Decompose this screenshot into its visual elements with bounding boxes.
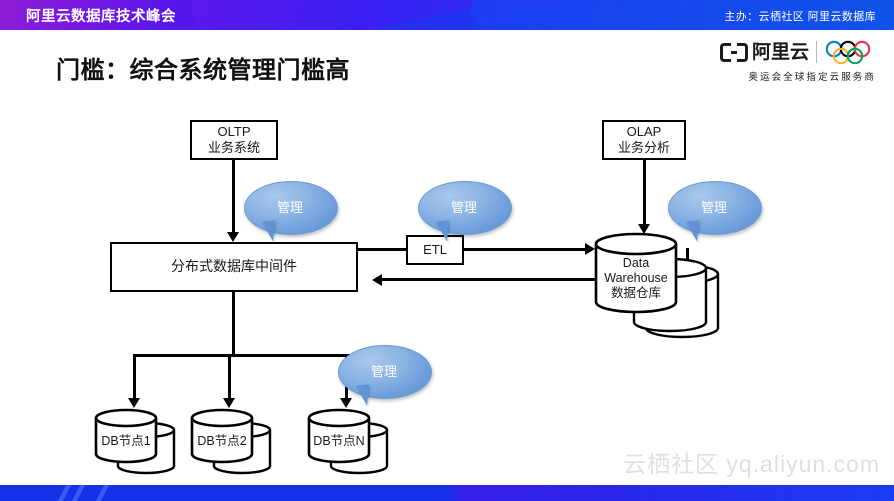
olap-line1: OLAP [627, 124, 662, 140]
etl-warehouse-line [464, 248, 589, 251]
olap-box: OLAP 业务分析 [602, 120, 686, 160]
manage-bubble-label-1: 管理 [244, 197, 336, 216]
manage-bubble-warehouse: 管理 [668, 181, 760, 233]
middleware-etl-line [358, 248, 406, 251]
manage-bubble-etl: 管理 [418, 181, 510, 233]
bubble-tail [262, 220, 277, 242]
warehouse-return-arrowhead [372, 274, 382, 286]
page-title: 门槛：综合系统管理门槛高 [56, 50, 350, 85]
manage-bubble-label-3: 管理 [668, 197, 760, 216]
header-organizer-text: 主办：云栖社区 阿里云数据库 [724, 8, 876, 24]
logo-wordmark: 阿里云 [752, 43, 809, 62]
etl-label: ETL [423, 242, 447, 258]
aliyun-logo: 阿里云 奥运会全球指定云服务商 [716, 40, 876, 83]
header-bar: 阿里云数据库技术峰会 主办：云栖社区 阿里云数据库 [0, 0, 894, 30]
footer-slash-1 [55, 485, 75, 501]
middleware-branch-trunk [232, 292, 235, 356]
manage-bubble-label-2: 管理 [418, 197, 510, 216]
alibaba-cloud-icon [720, 43, 748, 62]
logo-divider [816, 41, 817, 63]
etl-box: ETL [406, 235, 464, 265]
middleware-box: 分布式数据库中间件 [110, 242, 358, 292]
slide-canvas: 阿里云数据库技术峰会 主办：云栖社区 阿里云数据库 阿里云 奥运会全球指定云服务… [0, 0, 894, 501]
oltp-connector-arrowhead [227, 232, 239, 242]
footer-bar [0, 485, 894, 501]
db-node-2-drop-line [228, 354, 231, 402]
db-node-1-drop-line [133, 354, 136, 402]
middleware-branch-bus [133, 354, 365, 357]
logo-row: 阿里云 [716, 40, 876, 64]
bubble-tail [356, 384, 371, 406]
logo-tagline: 奥运会全球指定云服务商 [716, 69, 876, 83]
manage-bubble-db-nodes: 管理 [338, 345, 430, 397]
db-node-n-arrowhead [340, 398, 352, 408]
db-node-1: DB节点1 [92, 408, 184, 476]
header-brand-title: 阿里云数据库技术峰会 [26, 5, 176, 26]
middleware-label: 分布式数据库中间件 [171, 258, 297, 276]
manage-bubble-middleware: 管理 [244, 181, 336, 233]
db-node-2: DB节点2 [188, 408, 280, 476]
db-node-n: DB节点N [305, 408, 397, 476]
watermark: 云栖社区 yq.aliyun.com [623, 445, 880, 479]
oltp-box: OLTP 业务系统 [190, 120, 278, 160]
bubble-tail [436, 220, 451, 242]
oltp-connector-line [232, 160, 235, 236]
manage-bubble-label-4: 管理 [338, 361, 430, 380]
olap-connector-line [643, 160, 646, 228]
bubble-tail [686, 220, 701, 242]
db-node-1-arrowhead [128, 398, 140, 408]
olympic-rings-icon [824, 40, 876, 64]
olap-line2: 业务分析 [618, 140, 670, 156]
footer-slash-2 [69, 485, 89, 501]
data-warehouse-cylinder: Data Warehouse 数据仓库 [592, 228, 728, 336]
oltp-line1: OLTP [218, 124, 251, 140]
footer-slash-3 [93, 485, 113, 501]
oltp-line2: 业务系统 [208, 140, 260, 156]
db-node-2-arrowhead [223, 398, 235, 408]
